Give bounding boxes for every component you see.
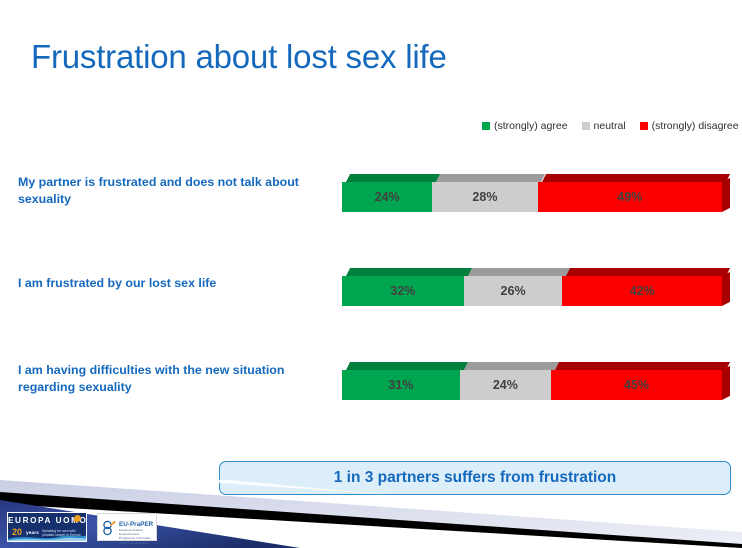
logo-apostrophe-icon xyxy=(74,515,81,522)
bar-segment-neutral: 26% xyxy=(464,276,563,306)
bar-segment-neutral: 24% xyxy=(460,370,551,400)
chart-row-label: I am frustrated by our lost sex life xyxy=(18,275,336,292)
bar-segment-disagree: 42% xyxy=(562,276,722,306)
logo-eu-proper-tagline: European Patient Empowerment Programme i… xyxy=(119,528,155,545)
square-swatch-icon xyxy=(640,122,648,130)
logo-wave-icon xyxy=(8,532,87,541)
chart-bar: 32% 26% 42% xyxy=(342,268,722,306)
bar-segment-agree: 24% xyxy=(342,182,432,212)
bar-segment-disagree: 49% xyxy=(538,182,722,212)
logo-eu-proper: EU-PraPER European Patient Empowerment P… xyxy=(97,513,157,541)
chart-bar: 31% 24% 45% xyxy=(342,362,722,400)
page-title: Frustration about lost sex life xyxy=(31,38,447,76)
chart-row: I am frustrated by our lost sex life 32%… xyxy=(0,268,742,348)
legend-item-neutral: neutral xyxy=(582,120,626,132)
legend-label-neutral: neutral xyxy=(594,120,626,132)
logo-eu-proper-title: EU-PraPER xyxy=(119,521,153,528)
legend-label-disagree: (strongly) disagree xyxy=(652,120,739,132)
chart-row: I am having difficulties with the new si… xyxy=(0,362,742,442)
legend-item-disagree: (strongly) disagree xyxy=(640,120,739,132)
bar-3d-end-cap xyxy=(722,366,730,400)
bar-segment-agree: 32% xyxy=(342,276,464,306)
legend-label-agree: (strongly) agree xyxy=(494,120,568,132)
bar-3d-end-cap xyxy=(722,178,730,212)
slide-canvas: Frustration about lost sex life (strongl… xyxy=(0,0,742,548)
chart-legend: (strongly) agree neutral (strongly) disa… xyxy=(482,120,739,132)
bar-3d-end-cap xyxy=(722,272,730,306)
bar-segment-disagree: 45% xyxy=(551,370,722,400)
chart-row-label: I am having difficulties with the new si… xyxy=(18,362,336,396)
square-swatch-icon xyxy=(482,122,490,130)
chart-row-label: My partner is frustrated and does not ta… xyxy=(18,174,336,208)
bar-segment-agree: 31% xyxy=(342,370,460,400)
square-swatch-icon xyxy=(582,122,590,130)
legend-item-agree: (strongly) agree xyxy=(482,120,568,132)
chart-row: My partner is frustrated and does not ta… xyxy=(0,174,742,254)
stacked-bar-chart: My partner is frustrated and does not ta… xyxy=(0,150,742,450)
logo-europa-uomo: EUROPA UOMO 20 years Speaking for men wi… xyxy=(7,512,87,542)
eu-proper-mark-icon xyxy=(102,520,117,536)
chart-bar: 24% 28% 49% xyxy=(342,174,722,212)
bar-segment-neutral: 28% xyxy=(432,182,537,212)
